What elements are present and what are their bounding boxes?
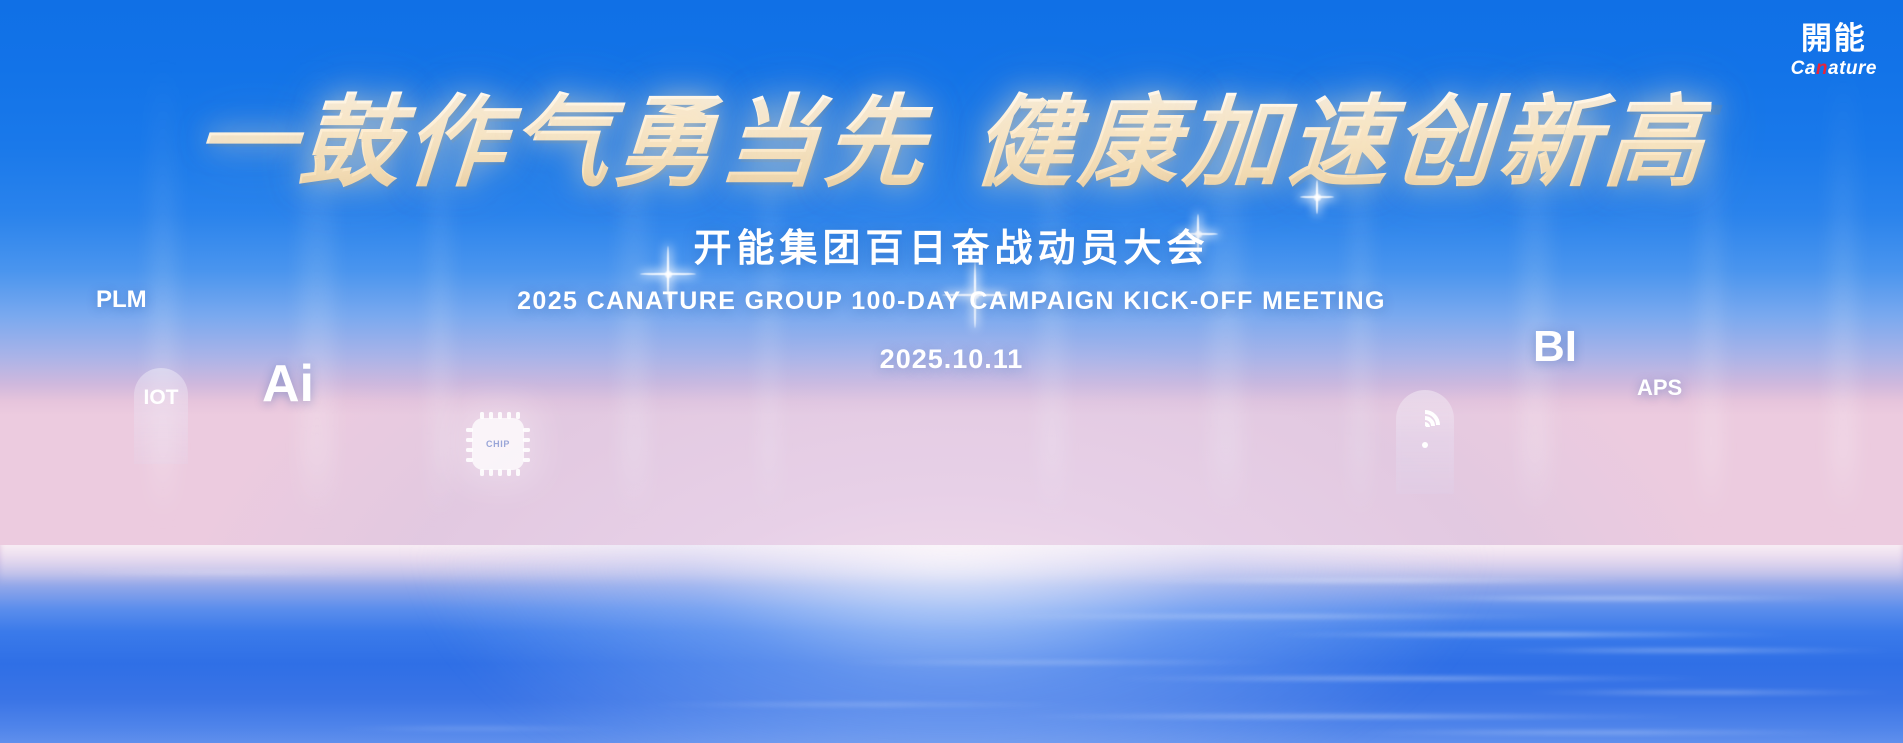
water-reflection-glow: [402, 545, 1502, 743]
subtitle-chinese: 开能集团百日奋战动员大会: [0, 224, 1903, 273]
tech-badge-plm[interactable]: PLM: [96, 286, 147, 314]
chip-pin-bottom-0: [480, 469, 484, 476]
chip-pin-right-3: [523, 458, 530, 462]
subtitle-english: 2025 CANATURE GROUP 100-DAY CAMPAIGN KIC…: [0, 287, 1903, 316]
subtitle-container: 开能集团百日奋战动员大会 2025 CANATURE GROUP 100-DAY…: [0, 224, 1903, 375]
water-surface: [0, 545, 1903, 743]
chip-icon-body: CHIP: [472, 418, 524, 470]
chip-pin-top-4: [516, 412, 520, 419]
chip-pin-top-1: [489, 412, 493, 419]
tech-badge-iot[interactable]: IOT: [134, 368, 188, 464]
water-ripple-5: [1480, 649, 1900, 652]
chip-pin-bottom-3: [507, 469, 511, 476]
tech-badge-ai[interactable]: Ai: [262, 354, 314, 414]
chip-pin-top-2: [498, 412, 502, 419]
chip-pin-top-3: [507, 412, 511, 419]
chip-pin-top-0: [480, 412, 484, 419]
water-ripple-8: [1520, 691, 1900, 694]
logo-english-accent: n: [1816, 58, 1828, 79]
logo-english-suffix: ature: [1828, 58, 1877, 79]
tech-badge-bi[interactable]: BI: [1533, 322, 1577, 372]
chip-pin-left-0: [466, 428, 473, 432]
canature-logo[interactable]: 開能 Canature: [1791, 24, 1877, 78]
wifi-dot: [1422, 442, 1428, 448]
chip-pin-bottom-1: [489, 469, 493, 476]
chip-icon-label: CHIP: [486, 439, 510, 449]
chip-pin-right-2: [523, 448, 530, 452]
chip-icon[interactable]: CHIP: [463, 409, 533, 479]
chip-pin-left-1: [466, 438, 473, 442]
chip-pin-left-3: [466, 458, 473, 462]
logo-chinese-text: 開能: [1791, 24, 1877, 55]
wifi-icon[interactable]: [1396, 390, 1454, 494]
event-banner: 開能 Canature 一鼓作气勇当先健康加速创新高 开能集团百日奋战动员大会 …: [0, 0, 1903, 743]
chip-pin-right-0: [523, 428, 530, 432]
tech-badge-aps[interactable]: APS: [1637, 375, 1682, 401]
chip-pin-right-1: [523, 438, 530, 442]
chip-pin-left-2: [466, 448, 473, 452]
chip-pin-bottom-2: [498, 469, 502, 476]
chip-pin-bottom-4: [516, 469, 520, 476]
logo-english-text: Canature: [1791, 59, 1877, 78]
logo-english-prefix: Ca: [1791, 58, 1816, 79]
